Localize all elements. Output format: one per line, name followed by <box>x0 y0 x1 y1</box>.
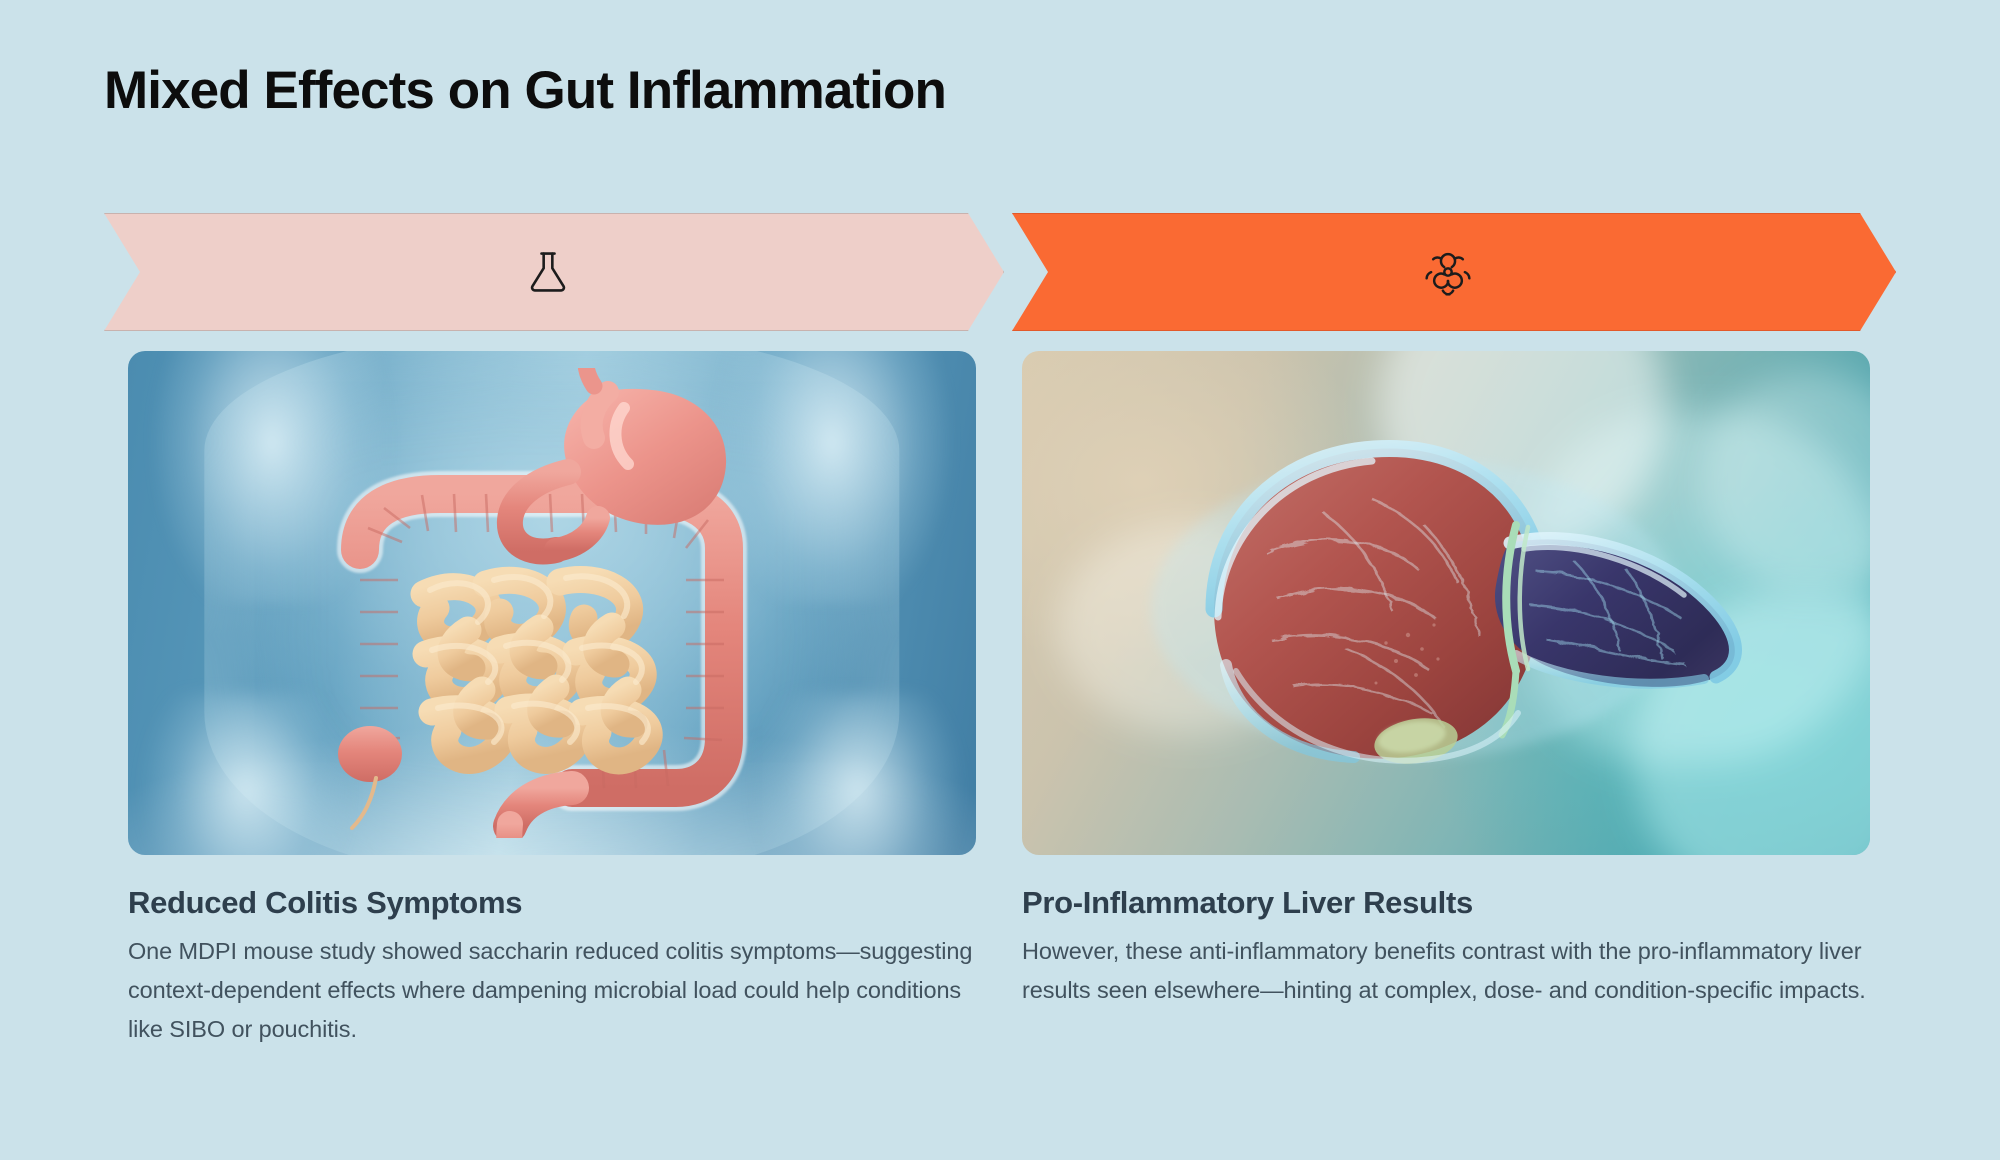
card-colitis-image <box>128 351 976 855</box>
flask-icon <box>522 246 574 298</box>
card-liver-heading: Pro-Inflammatory Liver Results <box>1022 884 1870 921</box>
card-colitis-body: One MDPI mouse study showed saccharin re… <box>128 932 974 1049</box>
banner-row <box>0 213 2000 331</box>
card-colitis-heading: Reduced Colitis Symptoms <box>128 884 976 921</box>
page-title: Mixed Effects on Gut Inflammation <box>104 62 946 120</box>
digestive-system-illustration <box>272 368 832 838</box>
slide-root: Mixed Effects on Gut Inflammation <box>0 0 2000 1160</box>
liver-illustration <box>1086 403 1806 823</box>
biohazard-icon <box>1422 246 1474 298</box>
banner-left[interactable] <box>104 213 1004 331</box>
banner-right[interactable] <box>1012 213 1896 331</box>
card-liver-image <box>1022 351 1870 855</box>
card-liver-body: However, these anti-inflammatory benefit… <box>1022 932 1868 1010</box>
